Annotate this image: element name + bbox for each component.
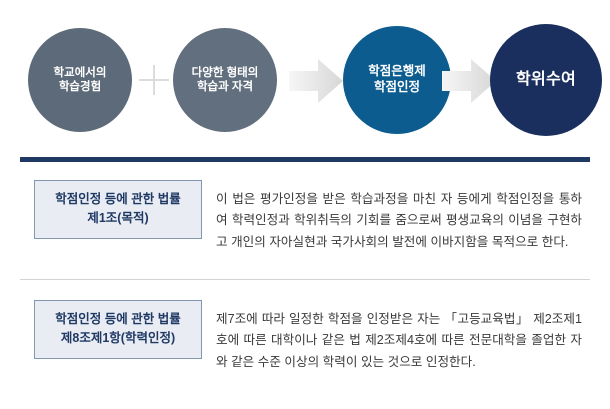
arrow-right-icon (288, 58, 344, 104)
law-body-text: 제7조에 따라 일정한 학점을 인정받은 자는 「고등교육법」 제2조제1호에 … (216, 309, 582, 374)
law-body-text: 이 법은 평가인정을 받은 학습과정을 마친 자 등에게 학점인정을 통하여 학… (216, 189, 582, 254)
law-body-cell: 제7조에 따라 일정한 학점을 인정받은 자는 「고등교육법」 제2조제1호에 … (216, 296, 590, 386)
flow-node-line: 학교에서의 (54, 66, 107, 80)
process-flow-diagram: 학교에서의 학습경험 다양한 형태의 학습과 자격 학점은행제 학점인정 (0, 0, 610, 150)
flow-node-line: 다양한 형태의 (192, 66, 259, 80)
flow-node-line: 학점은행제 (368, 64, 426, 80)
flow-node-diverse-learning: 다양한 형태의 학습과 자격 (173, 28, 277, 132)
table-row: 학점인정 등에 관한 법률 제8조제1항(학력인정) 제7조에 따라 일정한 학… (20, 279, 590, 399)
law-provisions-table: 학점인정 등에 관한 법률 제1조(목적) 이 법은 평가인정을 받은 학습과정… (20, 157, 590, 399)
table-row: 학점인정 등에 관한 법률 제1조(목적) 이 법은 평가인정을 받은 학습과정… (20, 162, 590, 279)
flow-node-line: 학습과 자격 (192, 80, 259, 94)
flow-node-credit-bank-recognition: 학점은행제 학점인정 (343, 26, 451, 134)
plus-icon (139, 65, 169, 95)
flow-node-text: 학위수여 (516, 70, 576, 90)
flow-node-school-experience: 학교에서의 학습경험 (28, 28, 132, 132)
law-reference-line: 제1조(목적) (39, 209, 197, 228)
law-reference-line: 제8조제1항(학력인정) (39, 329, 197, 348)
law-label-cell: 학점인정 등에 관한 법률 제8조제1항(학력인정) (20, 296, 216, 359)
flow-node-line: 학위수여 (516, 70, 576, 90)
flow-node-text: 학교에서의 학습경험 (54, 66, 107, 95)
law-label-cell: 학점인정 등에 관한 법률 제1조(목적) (20, 176, 216, 239)
flow-node-text: 학점은행제 학점인정 (368, 64, 426, 96)
law-reference-badge: 학점인정 등에 관한 법률 제1조(목적) (34, 180, 202, 239)
law-body-cell: 이 법은 평가인정을 받은 학습과정을 마친 자 등에게 학점인정을 통하여 학… (216, 176, 590, 266)
law-reference-line: 학점인정 등에 관한 법률 (39, 310, 197, 329)
flow-node-degree-conferral: 학위수여 (490, 24, 602, 136)
arrow-right-icon (441, 58, 497, 104)
flow-node-line: 학점인정 (368, 80, 426, 96)
flow-node-text: 다양한 형태의 학습과 자격 (192, 66, 259, 95)
flow-node-line: 학습경험 (54, 80, 107, 94)
law-reference-line: 학점인정 등에 관한 법률 (39, 190, 197, 209)
law-reference-badge: 학점인정 등에 관한 법률 제8조제1항(학력인정) (34, 300, 202, 359)
